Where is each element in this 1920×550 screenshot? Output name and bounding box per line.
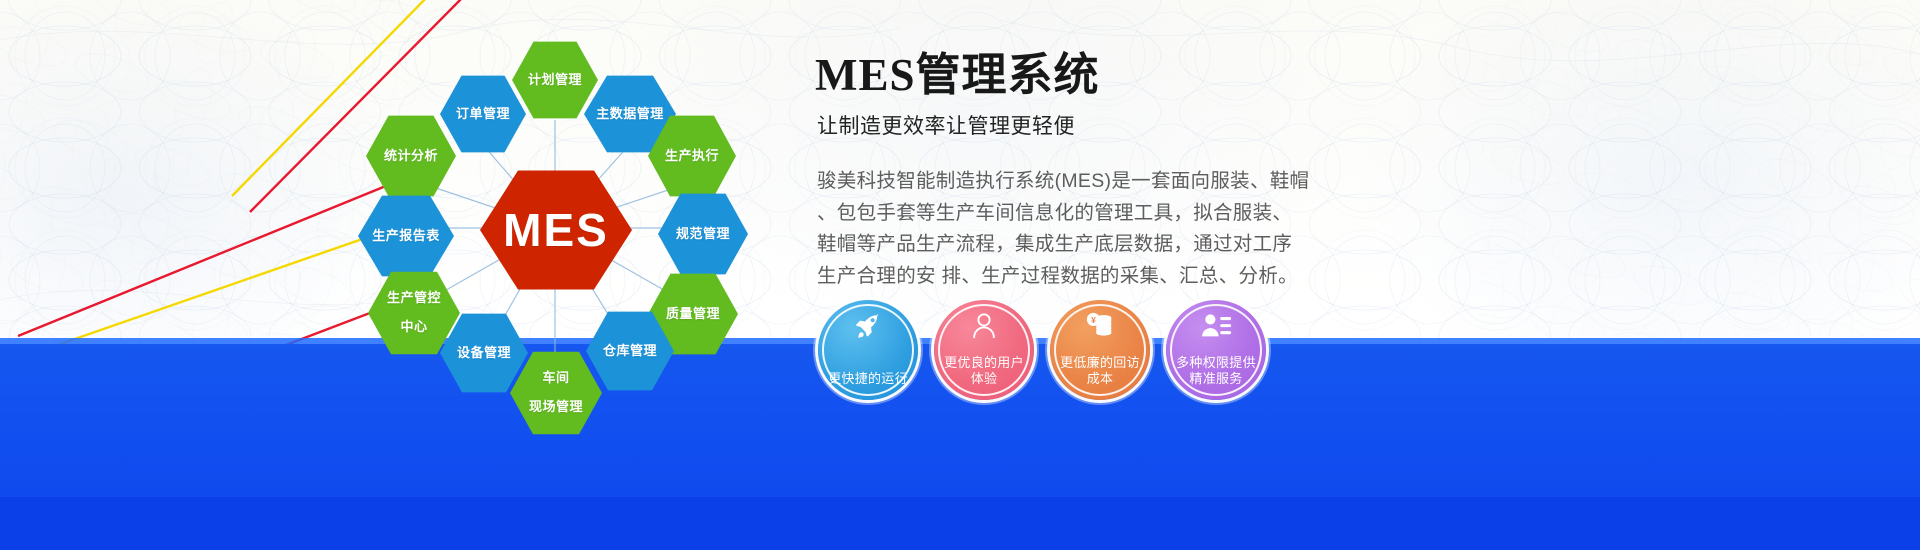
- hero-paragraph-line-2: 、包包手套等生产车间信息化的管理工具，拟合服装、: [817, 198, 1272, 230]
- hex-label-standard: 规范管理: [670, 227, 736, 242]
- badge-caption-line1: 更快捷的运行: [828, 371, 908, 386]
- badge-caption: 多种权限提供 精准服务: [1170, 355, 1262, 401]
- page-title: MES管理系统: [815, 52, 1875, 99]
- svg-text:¥: ¥: [1091, 315, 1096, 325]
- coins-icon: ¥: [1050, 311, 1150, 341]
- badge-caption-line2: 体验: [971, 371, 998, 386]
- hex-label-control-center-line2: 中心: [381, 320, 447, 335]
- user-icon: [934, 311, 1034, 341]
- badge-caption-line2: 成本: [1087, 371, 1114, 386]
- hex-label-production-report: 生产报告表: [366, 229, 446, 244]
- hex-label-master-data: 主数据管理: [590, 107, 670, 122]
- band-bottom: [0, 497, 1920, 550]
- hex-label-warehouse: 仓库管理: [597, 344, 663, 359]
- badge-caption-line1: 更低廉的回访: [1060, 355, 1140, 370]
- user-list-icon: [1166, 311, 1266, 341]
- feature-badge-faster[interactable]: 更快捷的运行: [818, 300, 918, 400]
- banner-stage: MES 计划管理 订单管理 主数据管理 统计分析 生产执行 生产报告表 规范管理…: [0, 0, 1920, 550]
- hero-paragraph: 骏美科技智能制造执行系统(MES)是一套面向服装、鞋帽 、包包手套等生产车间信息…: [817, 166, 1272, 292]
- badge-caption: 更低廉的回访 成本: [1054, 355, 1146, 401]
- badge-caption: 更优良的用户 体验: [938, 355, 1030, 401]
- hero-paragraph-line-4: 生产合理的安 排、生产过程数据的采集、汇总、分析。: [817, 261, 1272, 293]
- hex-label-order: 订单管理: [450, 107, 516, 122]
- page-subtitle: 让制造更效率让管理更轻便: [817, 110, 1875, 140]
- hex-label-equipment: 设备管理: [451, 346, 517, 361]
- badge-caption-line1: 多种权限提供: [1176, 355, 1256, 370]
- hex-label-control-center: 生产管控 中心: [375, 291, 453, 336]
- hex-label-quality: 质量管理: [660, 307, 726, 322]
- feature-badge-cost[interactable]: ¥ 更低廉的回访 成本: [1050, 300, 1150, 400]
- hex-label-control-center-line1: 生产管控: [381, 291, 447, 306]
- feature-badge-row: 更快捷的运行 更优良的用户 体验: [818, 300, 1266, 400]
- badge-caption-line1: 更优良的用户: [944, 355, 1024, 370]
- hero-text-column: MES管理系统 让制造更效率让管理更轻便 骏美科技智能制造执行系统(MES)是一…: [815, 52, 1875, 293]
- hero-paragraph-line-1: 骏美科技智能制造执行系统(MES)是一套面向服装、鞋帽: [817, 166, 1272, 198]
- hex-label-workshop: 车间 现场管理: [517, 371, 595, 416]
- hex-label-workshop-line1: 车间: [523, 371, 589, 386]
- feature-badge-experience[interactable]: 更优良的用户 体验: [934, 300, 1034, 400]
- badge-caption: 更快捷的运行: [822, 371, 914, 400]
- hex-label-plan: 计划管理: [522, 73, 588, 88]
- hex-label-production-exec: 生产执行: [659, 149, 725, 164]
- hero-paragraph-line-3: 鞋帽等产品生产流程，集成生产底层数据，通过对工序: [817, 229, 1272, 261]
- mes-hexagon-diagram: MES 计划管理 订单管理 主数据管理 统计分析 生产执行 生产报告表 规范管理…: [300, 10, 820, 430]
- rocket-icon: [818, 311, 918, 341]
- feature-badge-permissions[interactable]: 多种权限提供 精准服务: [1166, 300, 1266, 400]
- hex-label-workshop-line2: 现场管理: [523, 400, 589, 415]
- hex-label-center: MES: [497, 204, 615, 257]
- hex-label-statistics: 统计分析: [378, 149, 444, 164]
- badge-caption-line2: 精准服务: [1189, 371, 1242, 386]
